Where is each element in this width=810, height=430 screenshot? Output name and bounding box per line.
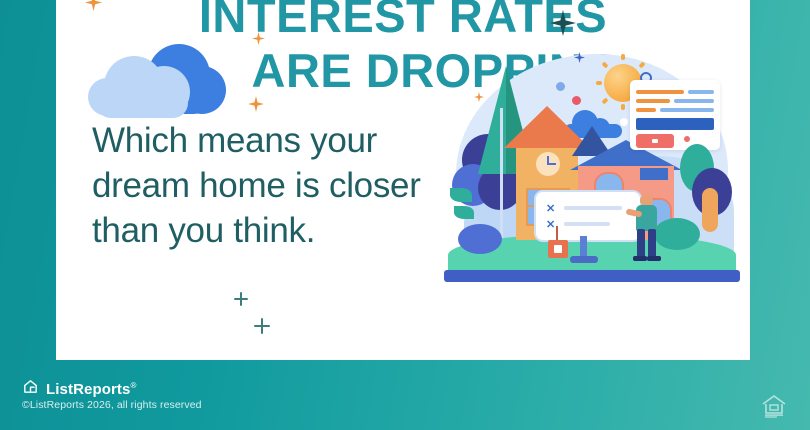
headline-line-1: INTEREST RATES [56,0,750,43]
dream-home-illustration: ✕ ✕ [444,48,740,288]
sign-board-icon: ✕ ✕ [534,190,642,242]
wheat-icon [702,188,718,232]
ground-line-shape [444,270,740,282]
dot-shape [556,82,565,91]
subheadline-text: Which means your dream home is closer th… [92,118,452,253]
dot-shape [620,118,628,126]
sign-base-shape [570,256,598,263]
cloud-pair-icon [86,40,236,120]
bush-icon [458,224,502,254]
plus-icon [254,318,270,334]
sparkle-icon [248,96,264,112]
brand-name: ListReports® [46,381,136,398]
house-outline-icon [22,378,39,400]
plus-icon [234,292,248,306]
brand-logo: ListReports® [22,378,136,400]
document-card-icon [630,80,720,150]
equal-housing-opportunity-icon [760,392,788,418]
content-card: INTEREST RATES ARE DROPPING Which means … [56,0,750,360]
leaf-icon [450,188,472,202]
leaf-icon [454,206,474,219]
branch-shape [500,108,503,248]
bush-icon [654,218,700,250]
registered-mark: ® [130,381,136,390]
mailbox-icon [548,240,568,258]
poster-canvas: INTEREST RATES ARE DROPPING Which means … [0,0,810,430]
dot-shape [572,96,581,105]
copyright-text: ©ListReports 2026, all rights reserved [22,399,202,411]
